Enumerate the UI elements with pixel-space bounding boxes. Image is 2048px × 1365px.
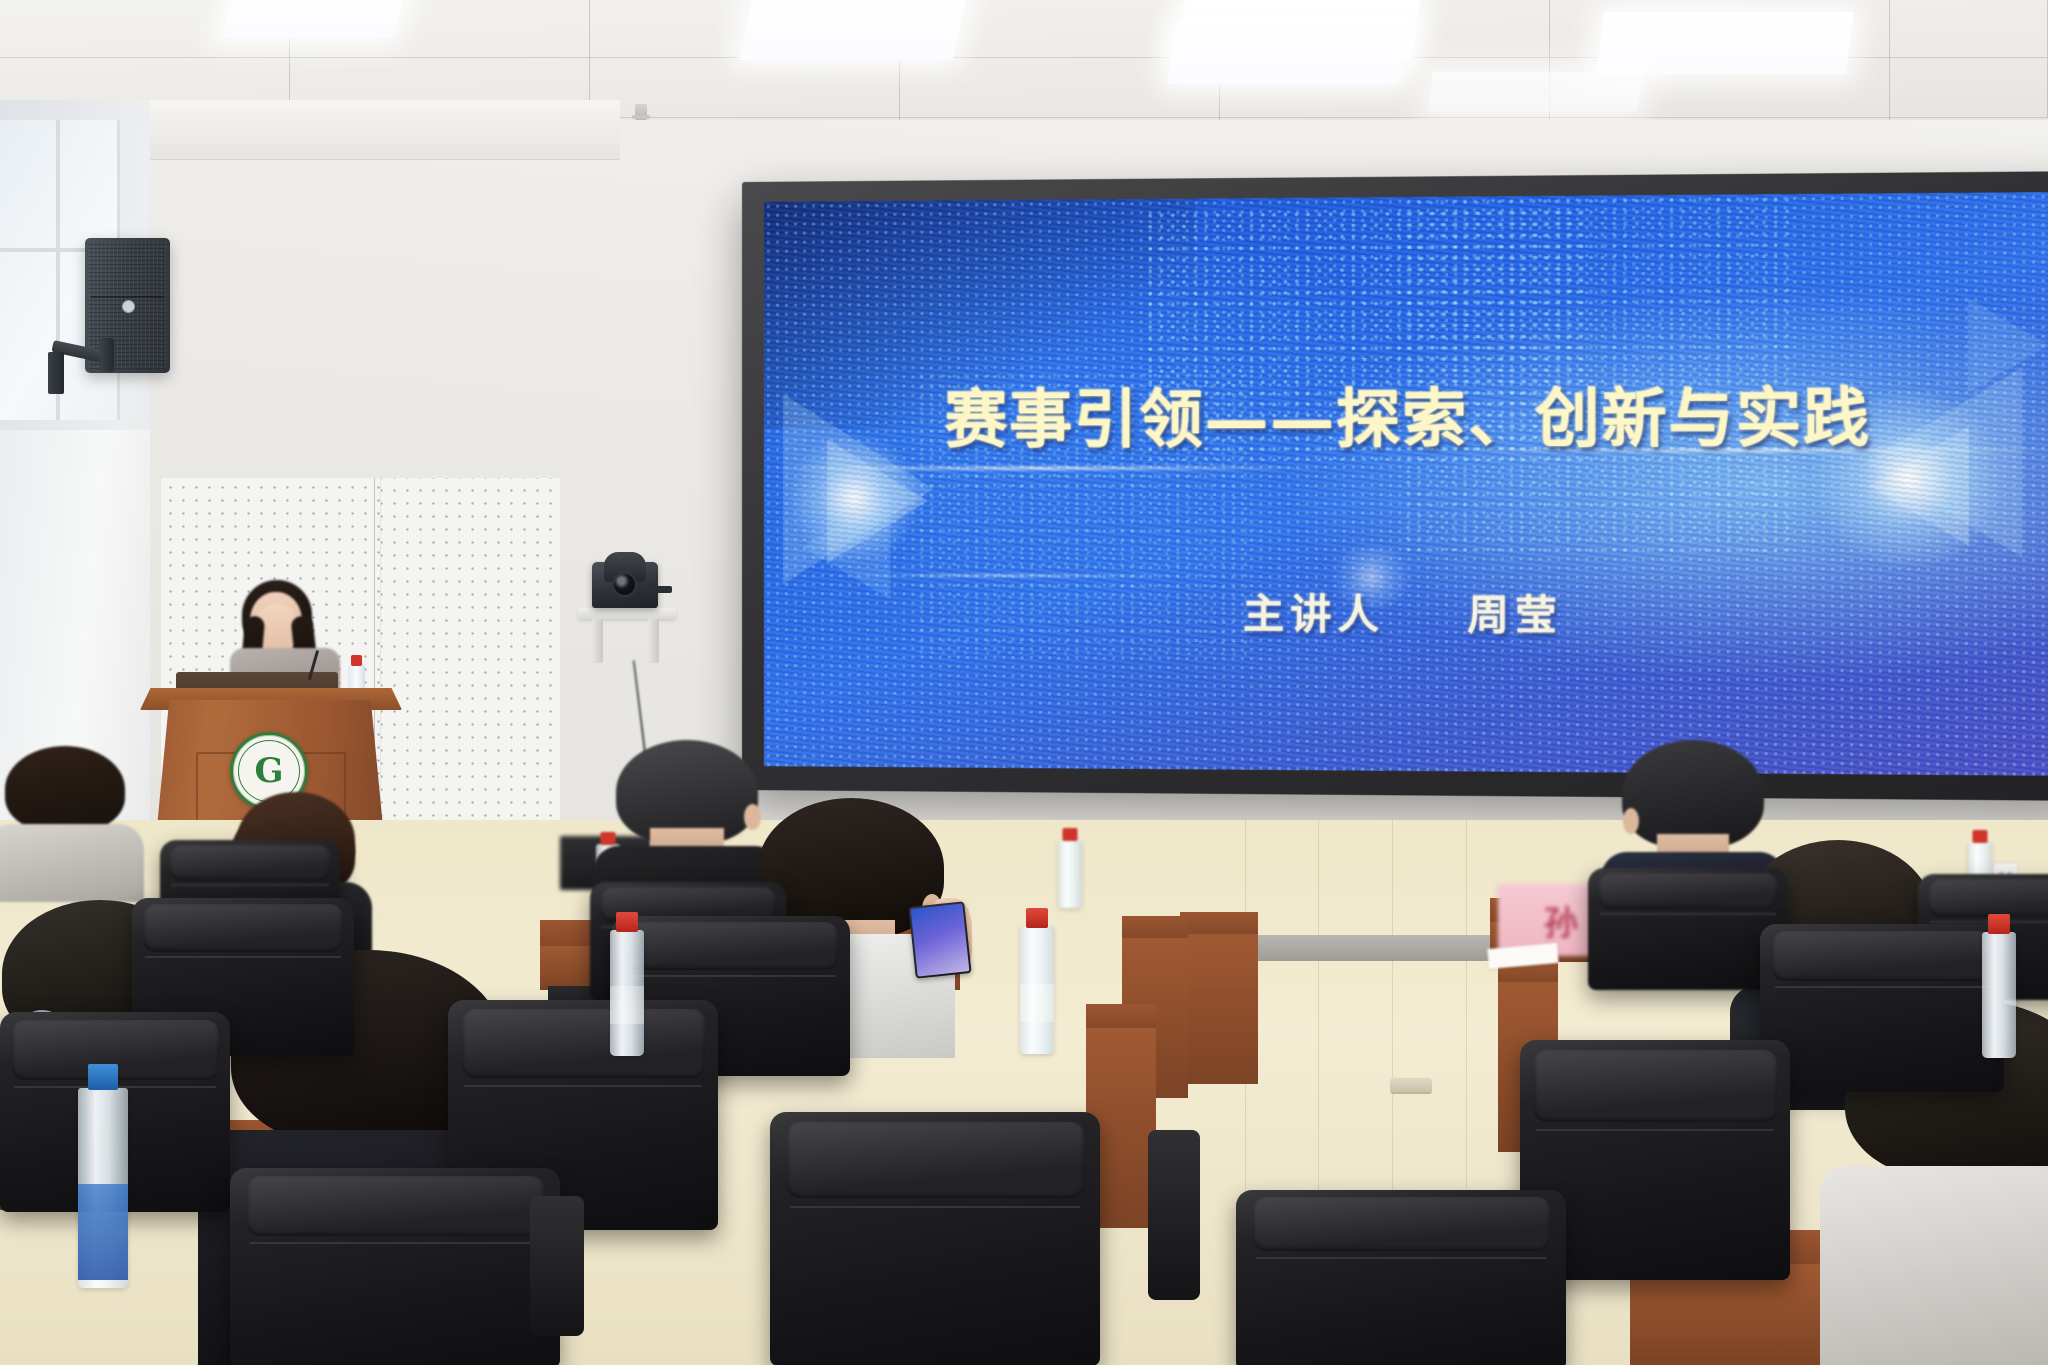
desk-front-mid-right	[1180, 934, 1258, 1084]
camera-side-arm	[648, 586, 672, 593]
chair-armrest-left	[530, 1196, 584, 1336]
water-bottle-front-3	[1982, 932, 2016, 1058]
person-hair	[5, 746, 125, 832]
bottle-cap	[616, 912, 638, 932]
camera-shelf	[578, 608, 676, 619]
ceiling-light-1	[220, 0, 407, 38]
ceiling-light-6	[1428, 72, 1643, 112]
sprinkler-icon	[635, 104, 647, 120]
bottle-label	[610, 986, 644, 1024]
person-row2-left	[0, 746, 130, 896]
phone-screen	[911, 903, 970, 976]
ceiling-light-2	[739, 0, 967, 60]
water-bottle-foreground-blue	[78, 1088, 128, 1288]
bottle-cap-blue	[88, 1064, 118, 1090]
water-bottle-front-2	[1020, 926, 1054, 1054]
person-torso	[0, 824, 144, 902]
chair-armrest-right	[1148, 1130, 1200, 1300]
bottle-cap	[1988, 914, 2010, 934]
camera-bracket-left	[592, 619, 603, 663]
chair-front-2[interactable]	[770, 1112, 1100, 1365]
desk-row-mid-right	[1180, 912, 1258, 934]
speaker-bracket-post	[100, 338, 114, 372]
chair-back-3[interactable]	[1588, 868, 1788, 990]
bottle-cap	[1026, 908, 1048, 928]
person-torso	[1820, 1166, 2048, 1365]
water-bottle-back-2	[1058, 840, 1082, 908]
slide-speaker-line: 主讲人 周莹	[764, 580, 2048, 643]
ceiling-light-5	[1596, 12, 1854, 74]
camera-lens-icon	[612, 572, 637, 597]
slide-title: 赛事引领——探索、创新与实践	[764, 366, 2048, 460]
desk-row-mid-left	[1122, 916, 1188, 938]
lecture-hall-scene: 赛事引领——探索、创新与实践 主讲人 周莹 G	[0, 0, 2048, 1365]
speaker-wall-plate	[48, 352, 64, 394]
water-bottle-front-1	[610, 930, 644, 1056]
speaker-logo	[122, 300, 135, 313]
person-hair	[1622, 740, 1764, 848]
chair-row2-3[interactable]	[1760, 924, 2004, 1092]
presentation-slide: 赛事引领——探索、创新与实践 主讲人 周莹	[764, 192, 2048, 776]
acoustic-wall-panel-right	[380, 478, 560, 853]
name-card-text: 孙	[1544, 896, 1578, 945]
camera-bracket-right	[648, 619, 659, 663]
ceiling-light-4	[1167, 22, 1409, 84]
person-ear	[1623, 808, 1639, 834]
chair-front-3[interactable]	[1236, 1190, 1566, 1365]
chair-front-1[interactable]	[230, 1168, 560, 1365]
led-scanline-overlay	[764, 192, 2048, 776]
smartphone-icon[interactable]	[908, 901, 971, 978]
bottle-label	[1020, 984, 1054, 1022]
floor-power-socket-icon	[1390, 1078, 1432, 1094]
desk-side-aisle-left	[1086, 1004, 1156, 1028]
bottle-label-blue	[78, 1184, 128, 1280]
led-display-wall[interactable]: 赛事引领——探索、创新与实践 主讲人 周莹	[742, 171, 2048, 801]
